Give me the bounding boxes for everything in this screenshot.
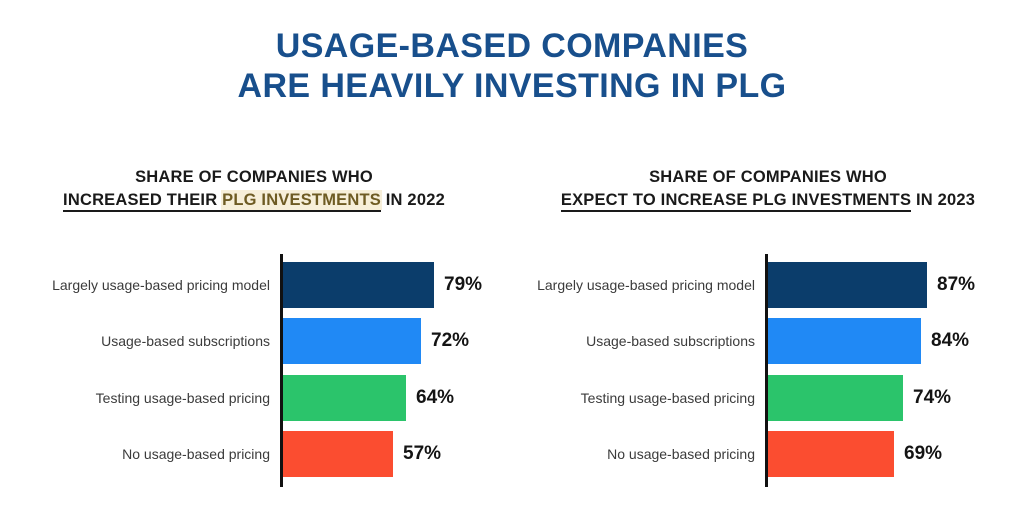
category-label: Testing usage-based pricing	[5, 375, 270, 421]
bar-value-label: 69%	[904, 431, 942, 477]
subtitle-right-line2: EXPECT TO INCREASE PLG INVESTMENTS IN 20…	[519, 189, 1017, 212]
bar-testing-usage-based	[283, 375, 406, 421]
subtitle-right-text-b: IN 2023	[911, 191, 975, 209]
bar-usage-based-subscriptions	[283, 318, 421, 364]
chart-panel-right: SHARE OF COMPANIES WHO EXPECT TO INCREAS…	[519, 166, 1017, 506]
category-label: No usage-based pricing	[5, 431, 270, 477]
bar-row: Testing usage-based pricing 64%	[5, 375, 503, 421]
bar-no-usage-based	[283, 431, 393, 477]
subtitle-left-line2: INCREASED THEIR PLG INVESTMENTS IN 2022	[5, 189, 503, 212]
bar-row: No usage-based pricing 69%	[519, 431, 1017, 477]
bar-largely-usage-based	[768, 262, 927, 308]
bar-value-label: 72%	[431, 318, 469, 364]
page-title: USAGE-BASED COMPANIES ARE HEAVILY INVEST…	[0, 26, 1024, 106]
bar-value-label: 74%	[913, 375, 951, 421]
subtitle-left-highlight: PLG INVESTMENTS	[222, 191, 381, 209]
slide-root: USAGE-BASED COMPANIES ARE HEAVILY INVEST…	[0, 0, 1024, 521]
category-label: Usage-based subscriptions	[5, 318, 270, 364]
subtitle-right-line1: SHARE OF COMPANIES WHO	[649, 168, 887, 186]
chart-panel-left: SHARE OF COMPANIES WHO INCREASED THEIR P…	[5, 166, 503, 506]
bar-largely-usage-based	[283, 262, 434, 308]
category-label: Testing usage-based pricing	[519, 375, 755, 421]
chart-subtitle-right: SHARE OF COMPANIES WHO EXPECT TO INCREAS…	[519, 166, 1017, 212]
bar-value-label: 64%	[416, 375, 454, 421]
category-label: No usage-based pricing	[519, 431, 755, 477]
title-line-1: USAGE-BASED COMPANIES	[0, 26, 1024, 66]
subtitle-left-line1: SHARE OF COMPANIES WHO	[135, 168, 373, 186]
subtitle-left-text-b: IN 2022	[381, 191, 445, 209]
bar-value-label: 87%	[937, 262, 975, 308]
bar-value-label: 57%	[403, 431, 441, 477]
bar-chart-right: Largely usage-based pricing model 87% Us…	[519, 254, 1017, 499]
title-line-2: ARE HEAVILY INVESTING IN PLG	[0, 66, 1024, 106]
category-label: Largely usage-based pricing model	[519, 262, 755, 308]
bar-row: Usage-based subscriptions 84%	[519, 318, 1017, 364]
bar-row: No usage-based pricing 57%	[5, 431, 503, 477]
subtitle-left-text-a: INCREASED THEIR	[63, 191, 222, 209]
bar-row: Testing usage-based pricing 74%	[519, 375, 1017, 421]
subtitle-right-underlined-part: EXPECT TO INCREASE PLG INVESTMENTS	[561, 191, 911, 212]
subtitle-left-underlined-part: INCREASED THEIR PLG INVESTMENTS	[63, 191, 381, 212]
bar-usage-based-subscriptions	[768, 318, 921, 364]
bar-row: Largely usage-based pricing model 79%	[5, 262, 503, 308]
bar-row: Usage-based subscriptions 72%	[5, 318, 503, 364]
bar-row: Largely usage-based pricing model 87%	[519, 262, 1017, 308]
bar-value-label: 84%	[931, 318, 969, 364]
bar-chart-left: Largely usage-based pricing model 79% Us…	[5, 254, 503, 499]
bar-no-usage-based	[768, 431, 894, 477]
category-label: Largely usage-based pricing model	[5, 262, 270, 308]
category-label: Usage-based subscriptions	[519, 318, 755, 364]
bar-testing-usage-based	[768, 375, 903, 421]
bar-value-label: 79%	[444, 262, 482, 308]
chart-subtitle-left: SHARE OF COMPANIES WHO INCREASED THEIR P…	[5, 166, 503, 212]
